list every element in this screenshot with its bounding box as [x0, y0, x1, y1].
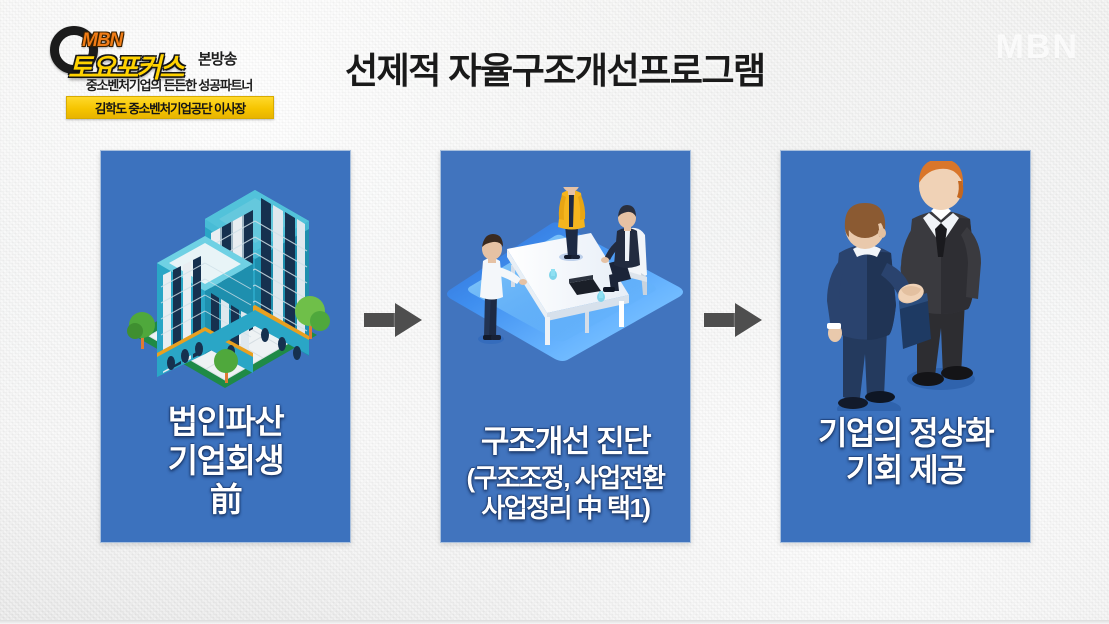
arrow-shaft — [364, 313, 398, 327]
caption-line: 법인파산 — [101, 403, 350, 442]
bottom-edge-line — [0, 620, 1109, 624]
live-badge: 본방송 — [198, 48, 236, 69]
handshake-businessmen-icon — [781, 161, 1030, 411]
guest-name-banner: 김학도 중소벤처기업공단 이사장 — [66, 96, 274, 119]
arrow-head — [395, 303, 422, 337]
caption-main: 구조개선 진단 — [441, 424, 690, 461]
caption-hanja: 前 — [101, 481, 350, 520]
flow-step-caption-3: 기업의 정상화 기회 제공 — [781, 415, 1030, 491]
flow-step-panel-1: 법인파산 기업회생 前 — [100, 150, 351, 543]
page-title: 선제적 자율구조개선프로그램 — [345, 42, 865, 94]
arrow-shaft — [704, 313, 738, 327]
caption-line: 기회 제공 — [781, 452, 1030, 490]
broadcast-screen: MBN MBN 토요포커스 본방송 중소벤처기업의 든든한 성공파트너 김학도 … — [0, 0, 1109, 624]
caption-line: 기업회생 — [101, 442, 350, 481]
caption-line: (구조조정, 사업전환 — [441, 463, 690, 494]
caption-line: 사업정리 中 택1) — [441, 493, 690, 524]
meeting-table-icon — [441, 187, 690, 407]
office-building-icon — [101, 157, 350, 407]
arrow-right-icon — [704, 303, 762, 337]
flow-step-caption-2: 구조개선 진단 (구조조정, 사업전환 사업정리 中 택1) — [441, 424, 690, 524]
caption-line: 기업의 정상화 — [781, 415, 1030, 453]
flow-step-caption-1: 법인파산 기업회생 前 — [101, 403, 350, 520]
flow-step-panel-2: 구조개선 진단 (구조조정, 사업전환 사업정리 中 택1) — [440, 150, 691, 543]
arrow-right-icon — [364, 303, 422, 337]
program-logo-block: MBN 토요포커스 본방송 중소벤처기업의 든든한 성공파트너 김학도 중소벤처… — [50, 22, 282, 126]
flow-step-panel-3: 기업의 정상화 기회 제공 — [780, 150, 1031, 543]
guest-name-text: 김학도 중소벤처기업공단 이사장 — [95, 98, 245, 117]
arrow-head — [735, 303, 762, 337]
channel-watermark: MBN — [996, 28, 1079, 67]
program-subtitle: 중소벤처기업의 든든한 성공파트너 — [58, 75, 280, 94]
